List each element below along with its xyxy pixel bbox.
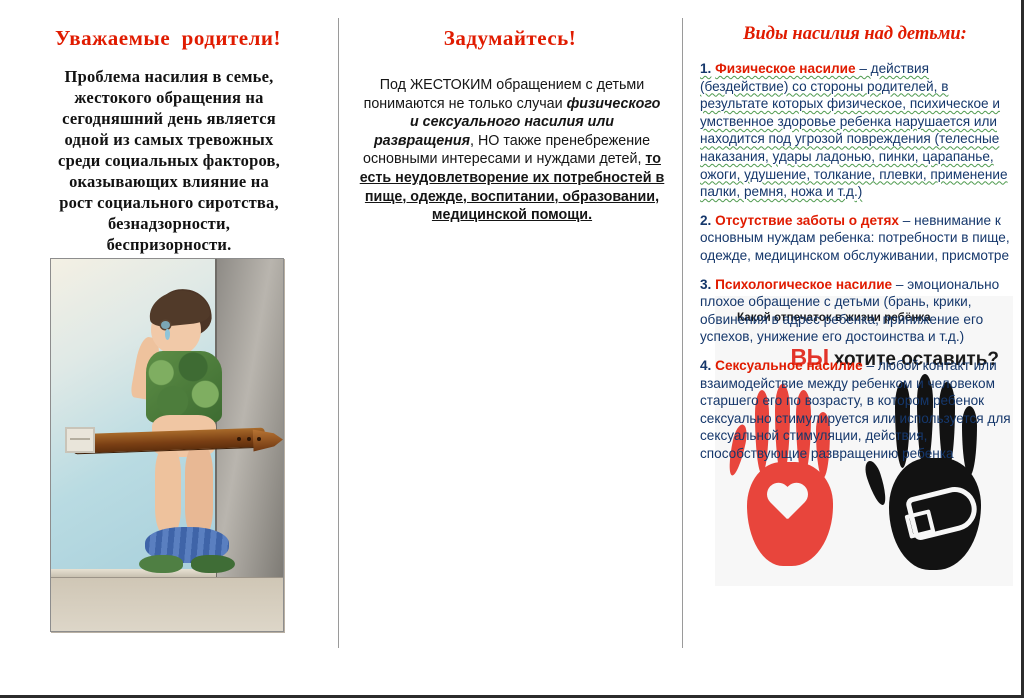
item-2-number: 2.	[700, 213, 711, 228]
item-1-body: действия (бездействие) со стороны родите…	[700, 61, 1008, 199]
item-4-dash: –	[863, 358, 878, 373]
middle-column: Задумайтесь! Под ЖЕСТОКИМ обращением с д…	[340, 0, 680, 695]
left-line-5: оказывающих влияние на	[69, 172, 269, 191]
list-item: 4. Сексуальное насилие – любой контакт и…	[700, 357, 1014, 463]
middle-run-0: Под	[380, 77, 410, 93]
illustration-belt-buckle	[65, 427, 95, 453]
list-item: 3. Психологическое насилие – эмоциональн…	[700, 276, 1014, 346]
left-line-0: Проблема насилия в семье,	[65, 67, 274, 86]
illustration-child-shoe-left	[139, 555, 183, 573]
list-item: 1. Физическое насилие – действия (бездей…	[700, 60, 1014, 201]
left-column: Уважаемые родители! Проблема насилия в с…	[0, 0, 336, 695]
illustration-child-eye	[161, 321, 170, 329]
left-line-8: беспризорности.	[107, 235, 232, 254]
illustration-child-tear	[165, 329, 170, 340]
left-paragraph: Проблема насилия в семье, жестокого обра…	[22, 66, 316, 255]
left-line-4: среди социальных факторов,	[58, 151, 280, 170]
left-line-6: рост социального сиротства,	[59, 193, 279, 212]
item-2-dash: –	[899, 213, 914, 228]
item-2-term: Отсутствие заботы о детях	[715, 213, 899, 228]
item-1-dash: –	[856, 61, 871, 76]
middle-run-1: ЖЕСТОКИМ	[410, 77, 492, 93]
item-3-dash: –	[892, 277, 907, 292]
illustration-floor	[51, 577, 283, 631]
illustration-floor-edge	[51, 577, 283, 578]
crying-child-with-belt-illustration	[50, 258, 284, 632]
violence-types-list: 1. Физическое насилие – действия (бездей…	[700, 60, 1014, 473]
illustration-child-shoe-right	[191, 555, 235, 573]
left-line-1: жестокого обращения на	[74, 88, 263, 107]
item-4-body: любой контакт или взаимодействие между р…	[700, 358, 1011, 461]
item-3-number: 3.	[700, 277, 711, 292]
right-heading: Виды насилия над детьми:	[700, 24, 1010, 45]
illustration-belt-holes	[237, 437, 267, 442]
item-1-term: Физическое насилие	[715, 61, 855, 76]
left-line-3: одной из самых тревожных	[65, 130, 274, 149]
column-divider-1	[338, 18, 339, 648]
left-line-7: безнадзорности,	[108, 214, 230, 233]
item-1-number: 1.	[700, 61, 711, 76]
illustration-child-leg-right	[185, 447, 213, 535]
illustration-door	[216, 259, 283, 577]
brochure-page: Уважаемые родители! Проблема насилия в с…	[0, 0, 1024, 698]
left-heading: Уважаемые родители!	[0, 26, 336, 51]
right-column: Виды насилия над детьми: 1. Физическое н…	[686, 0, 1024, 695]
item-4-term: Сексуальное насилие	[715, 358, 863, 373]
column-divider-2	[682, 18, 683, 648]
left-line-2: сегодняшний день является	[62, 109, 276, 128]
list-item: 2. Отсутствие заботы о детях – невнимани…	[700, 212, 1014, 265]
middle-heading: Задумайтесь!	[340, 26, 680, 51]
item-4-number: 4.	[700, 358, 711, 373]
illustration-child-shirt	[146, 351, 222, 423]
middle-paragraph: Под ЖЕСТОКИМ обращением с детьми понимаю…	[358, 76, 666, 225]
illustration-child-leg-left	[155, 449, 181, 533]
item-3-term: Психологическое насилие	[715, 277, 892, 292]
